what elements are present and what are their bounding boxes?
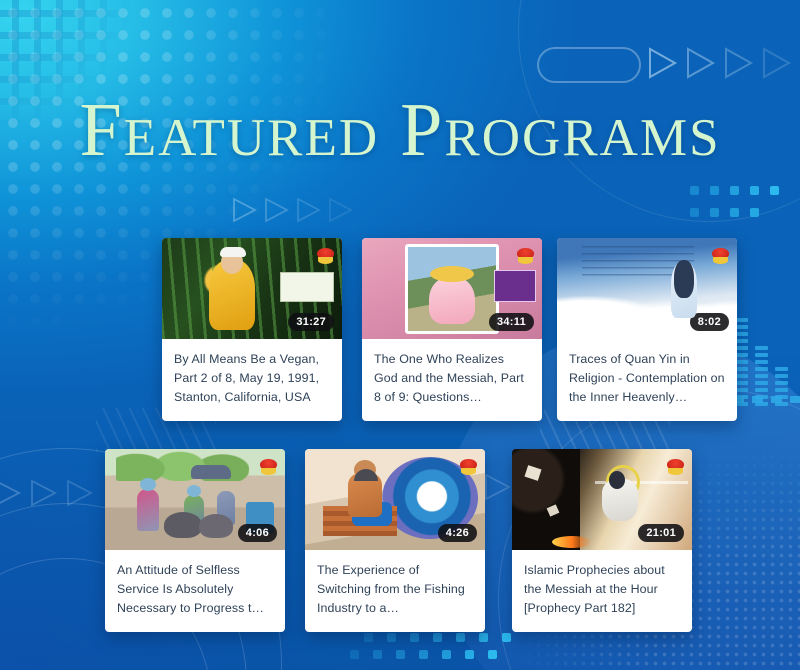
program-card[interactable]: 21:01 Islamic Prophecies about the Messi… [512, 449, 692, 632]
decor-square-row [364, 633, 511, 642]
card-title: By All Means Be a Vegan, Part 2 of 8, Ma… [162, 339, 342, 421]
card-thumbnail[interactable]: 31:27 [162, 238, 342, 339]
decor-square-row [690, 186, 779, 195]
duration-badge: 4:26 [438, 524, 477, 542]
play-triangle-icon [645, 46, 679, 80]
decor-square [350, 650, 359, 659]
lotus-logo-icon [314, 242, 336, 264]
card-thumbnail[interactable]: 34:11 [362, 238, 542, 339]
lotus-logo-icon [709, 242, 731, 264]
program-card[interactable]: 4:06 An Attitude of Selfless Service Is … [105, 449, 285, 632]
play-triangle-icon [482, 472, 512, 502]
decor-square [750, 208, 759, 217]
card-title: The One Who Realizes God and the Messiah… [362, 339, 542, 421]
program-card[interactable]: 31:27 By All Means Be a Vegan, Part 2 of… [162, 238, 342, 421]
play-triangle-icon [683, 46, 717, 80]
decor-square [465, 650, 474, 659]
decor-square [410, 633, 419, 642]
decor-square [364, 633, 373, 642]
program-card[interactable]: 34:11 The One Who Realizes God and the M… [362, 238, 542, 421]
card-title: Islamic Prophecies about the Messiah at … [512, 550, 692, 632]
decor-square [690, 208, 699, 217]
play-triangle-icon [294, 196, 322, 224]
play-triangle-icon [64, 478, 94, 508]
decor-square [710, 208, 719, 217]
lotus-logo-icon [514, 242, 536, 264]
duration-badge: 34:11 [489, 313, 534, 331]
decor-square-row [690, 208, 759, 217]
program-card[interactable]: 8:02 Traces of Quan Yin in Religion - Co… [557, 238, 737, 421]
decor-square [387, 633, 396, 642]
play-triangle-icon [721, 46, 755, 80]
lotus-logo-icon [257, 453, 279, 475]
play-triangle-icon [326, 196, 354, 224]
decor-square [710, 186, 719, 195]
duration-badge: 21:01 [638, 524, 684, 542]
decor-square [373, 650, 382, 659]
decor-square [396, 650, 405, 659]
duration-badge: 8:02 [690, 313, 729, 331]
play-triangle-icon [0, 478, 22, 508]
card-title: Traces of Quan Yin in Religion - Contemp… [557, 339, 737, 421]
card-thumbnail[interactable]: 21:01 [512, 449, 692, 550]
lotus-logo-icon [457, 453, 479, 475]
card-title: An Attitude of Selfless Service Is Absol… [105, 550, 285, 632]
duration-badge: 4:06 [238, 524, 277, 542]
card-thumbnail[interactable]: 4:06 [105, 449, 285, 550]
decor-square [770, 186, 779, 195]
decor-square [442, 650, 451, 659]
decor-square [690, 186, 699, 195]
page-title: Featured Programs [0, 92, 800, 168]
lotus-logo-icon [664, 453, 686, 475]
decor-square [456, 633, 465, 642]
decor-square [419, 650, 428, 659]
decor-square [479, 633, 488, 642]
featured-programs-banner: Featured Programs [0, 0, 800, 670]
decor-square [730, 186, 739, 195]
card-thumbnail[interactable]: 8:02 [557, 238, 737, 339]
play-triangle-icon [262, 196, 290, 224]
capsule-outline-icon [537, 47, 641, 83]
decor-square-row [350, 650, 497, 659]
duration-badge: 31:27 [288, 313, 334, 331]
card-title: The Experience of Switching from the Fis… [305, 550, 485, 632]
play-triangle-icon [230, 196, 258, 224]
program-card[interactable]: 4:26 The Experience of Switching from th… [305, 449, 485, 632]
decor-square [730, 208, 739, 217]
decor-square [488, 650, 497, 659]
card-thumbnail[interactable]: 4:26 [305, 449, 485, 550]
decor-square [750, 186, 759, 195]
decor-square [433, 633, 442, 642]
play-triangle-icon [28, 478, 58, 508]
play-triangle-icon [759, 46, 793, 80]
decor-square [502, 633, 511, 642]
